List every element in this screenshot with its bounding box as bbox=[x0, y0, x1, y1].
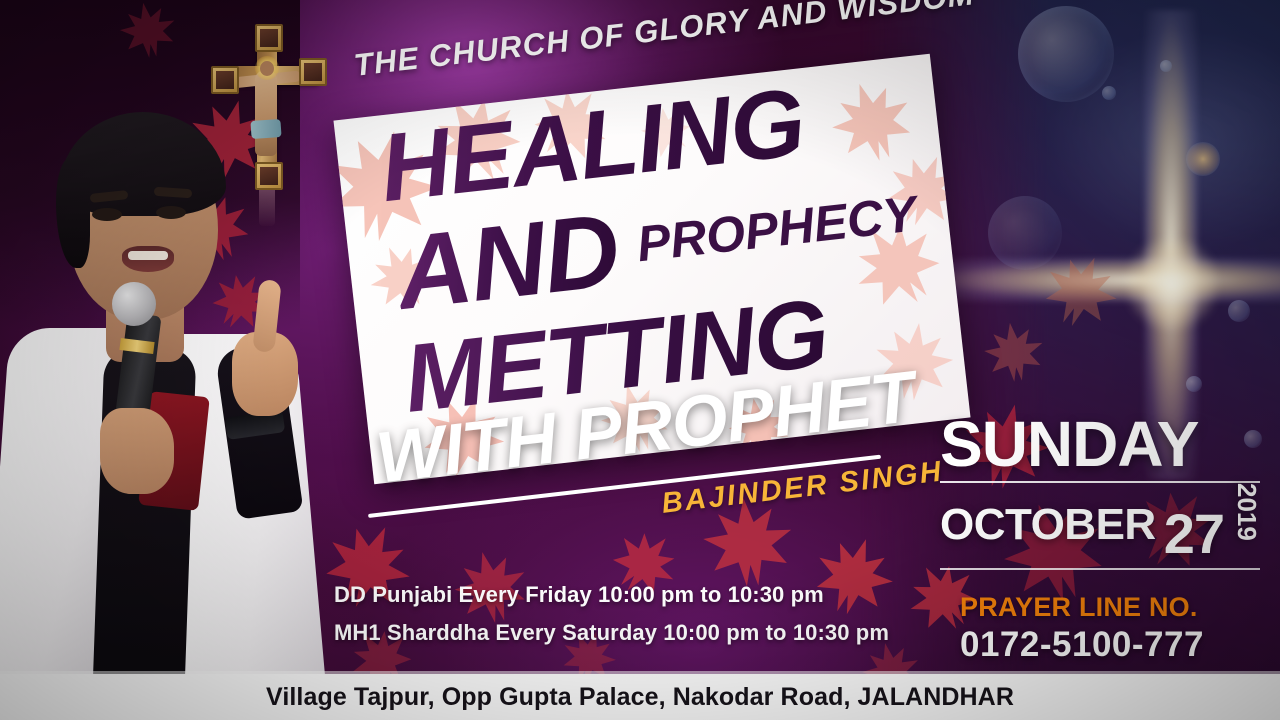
bokeh-light bbox=[1160, 60, 1172, 72]
event-date-block: SUNDAY OCTOBER 27 2019 bbox=[940, 414, 1260, 570]
venue-address: Village Tajpur, Opp Gupta Palace, Nakoda… bbox=[266, 683, 1014, 712]
date-day: 27 bbox=[1164, 501, 1224, 566]
date-month-day-row: OCTOBER 27 2019 bbox=[940, 487, 1260, 552]
date-year: 2019 bbox=[1231, 483, 1262, 541]
bokeh-light bbox=[1102, 86, 1116, 100]
tv-schedule-list: DD Punjabi Every Friday 10:00 pm to 10:3… bbox=[334, 582, 889, 658]
date-month: OCTOBER bbox=[940, 500, 1156, 550]
bokeh-light bbox=[1228, 300, 1250, 322]
date-weekday: SUNDAY bbox=[940, 414, 1260, 475]
speaker-photo bbox=[0, 96, 324, 720]
tv-schedule-item: DD Punjabi Every Friday 10:00 pm to 10:3… bbox=[334, 582, 889, 608]
bokeh-light bbox=[1186, 142, 1220, 176]
title-word-prophecy: PROPHECY bbox=[634, 188, 918, 269]
maple-leaf-icon bbox=[978, 316, 1050, 388]
prayer-line-label: PRAYER LINE NO. bbox=[960, 592, 1204, 623]
bokeh-light bbox=[1018, 6, 1114, 102]
maple-leaf-icon bbox=[113, 0, 183, 65]
tv-schedule-item: MH1 Sharddha Every Saturday 10:00 pm to … bbox=[334, 620, 889, 646]
date-divider-top bbox=[940, 481, 1260, 483]
event-poster: HEALING AND PROPHECY METTING THE CHURCH … bbox=[0, 0, 1280, 720]
prayer-line-block: PRAYER LINE NO. 0172-5100-777 bbox=[960, 592, 1204, 665]
address-bar: Village Tajpur, Opp Gupta Palace, Nakoda… bbox=[0, 674, 1280, 720]
prayer-line-number[interactable]: 0172-5100-777 bbox=[960, 625, 1204, 665]
bokeh-light bbox=[1186, 376, 1202, 392]
date-divider-bottom bbox=[940, 568, 1260, 570]
